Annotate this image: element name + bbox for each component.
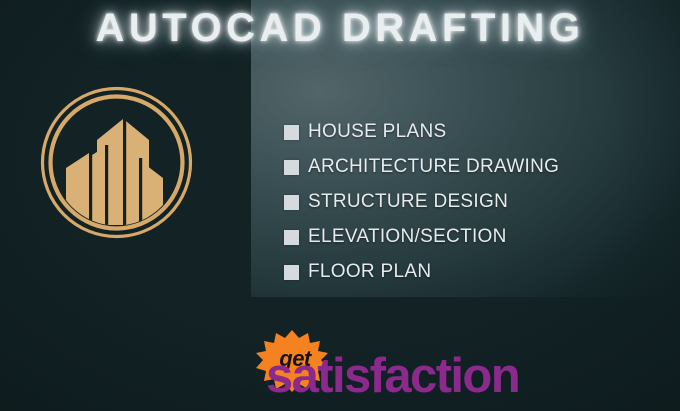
get-satisfaction-watermark: get satisfaction bbox=[256, 330, 556, 402]
checkbox-bullet-icon bbox=[284, 160, 299, 175]
logo-buildings bbox=[66, 117, 163, 227]
banner-canvas: AUTOCAD DRAFTING bbox=[0, 0, 680, 411]
list-item-label: STRUCTURE DESIGN bbox=[308, 191, 508, 213]
checkbox-bullet-icon bbox=[284, 195, 299, 210]
list-item[interactable]: STRUCTURE DESIGN bbox=[284, 189, 664, 215]
list-item-label: HOUSE PLANS bbox=[308, 121, 446, 143]
services-list: HOUSE PLANS ARCHITECTURE DRAWING STRUCTU… bbox=[284, 119, 664, 294]
list-item[interactable]: HOUSE PLANS bbox=[284, 119, 664, 145]
page-title: AUTOCAD DRAFTING bbox=[0, 6, 680, 51]
checkbox-bullet-icon bbox=[284, 125, 299, 140]
list-item[interactable]: ARCHITECTURE DRAWING bbox=[284, 154, 664, 180]
list-item-label: ELEVATION/SECTION bbox=[308, 226, 507, 248]
list-item[interactable]: FLOOR PLAN bbox=[284, 259, 664, 285]
list-item[interactable]: ELEVATION/SECTION bbox=[284, 224, 664, 250]
list-item-label: ARCHITECTURE DRAWING bbox=[308, 156, 559, 178]
checkbox-bullet-icon bbox=[284, 230, 299, 245]
architecture-building-logo bbox=[39, 85, 194, 240]
checkbox-bullet-icon bbox=[284, 265, 299, 280]
list-item-label: FLOOR PLAN bbox=[308, 261, 431, 283]
watermark-satisfaction-text: satisfaction bbox=[266, 352, 519, 401]
